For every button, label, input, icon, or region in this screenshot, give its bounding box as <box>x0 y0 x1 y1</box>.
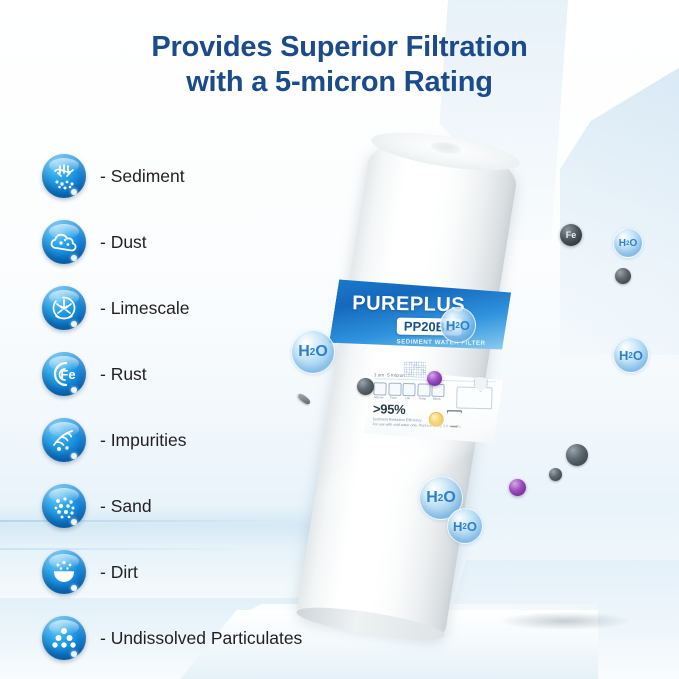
sediment-particle <box>549 468 562 481</box>
spec-header-right: 5 micron <box>387 373 405 378</box>
svg-text:Fe: Fe <box>60 367 75 382</box>
sand-icon <box>42 484 86 528</box>
page-title: Provides Superior Filtration with a 5-mi… <box>0 30 679 100</box>
feature-row: - Undissolved Particulates <box>42 605 382 671</box>
feature-row: - Impurities <box>42 407 382 473</box>
cartridge-ground-shadow <box>500 612 630 630</box>
feature-row: - Sand <box>42 473 382 539</box>
spec-icon-temp: Temp <box>417 383 428 400</box>
feature-label: - Sand <box>100 496 152 517</box>
dirt-icon <box>42 550 86 594</box>
background-block-2 <box>560 55 679 355</box>
feature-row: - Dust <box>42 209 382 275</box>
dust-cloud-icon <box>42 220 86 264</box>
feature-label: - Sediment <box>100 166 185 187</box>
rust-fe-icon: Fe <box>42 352 86 396</box>
headline-line-1: Provides Superior Filtration <box>151 31 527 63</box>
h2o-bubble: H2O <box>613 337 649 373</box>
h2o-bubble: H2O <box>447 508 483 544</box>
mesh-swatch-icon <box>404 361 426 378</box>
feature-row: - Sediment <box>42 143 382 209</box>
feature-label: - Limescale <box>100 298 189 319</box>
microbe-particle <box>427 371 442 386</box>
product-infographic: Provides Superior Filtration with a 5-mi… <box>0 0 679 679</box>
sediment-icon <box>42 154 86 198</box>
feature-row: - Limescale <box>42 275 382 341</box>
feature-label: - Rust <box>100 364 147 385</box>
sediment-particle <box>566 444 588 466</box>
h2o-bubble: H2O <box>440 307 476 343</box>
rust-particle: Fe <box>560 224 582 246</box>
feature-label: - Undissolved Particulates <box>100 628 302 649</box>
feature-label: - Impurities <box>100 430 187 451</box>
particulates-icon <box>42 616 86 660</box>
feature-row: Fe- Rust <box>42 341 382 407</box>
impurities-icon <box>42 418 86 462</box>
headline-line-2: with a 5-micron Rating <box>0 65 679 100</box>
limescale-icon <box>42 286 86 330</box>
spec-icon-flow: Flow <box>388 383 399 400</box>
spec-icon-mesh: Mesh <box>431 384 442 401</box>
spec-side-box <box>456 386 493 409</box>
feature-label: - Dust <box>100 232 147 253</box>
h2o-bubble: H2O <box>613 228 643 258</box>
feature-list: - Sediment- Dust- LimescaleFe- Rust- Imp… <box>42 143 382 671</box>
feature-row: - Dirt <box>42 539 382 605</box>
sediment-particle <box>615 268 631 284</box>
microbe-particle <box>509 479 526 496</box>
feature-label: - Dirt <box>100 562 138 583</box>
spec-icon-life: Life <box>402 383 413 400</box>
